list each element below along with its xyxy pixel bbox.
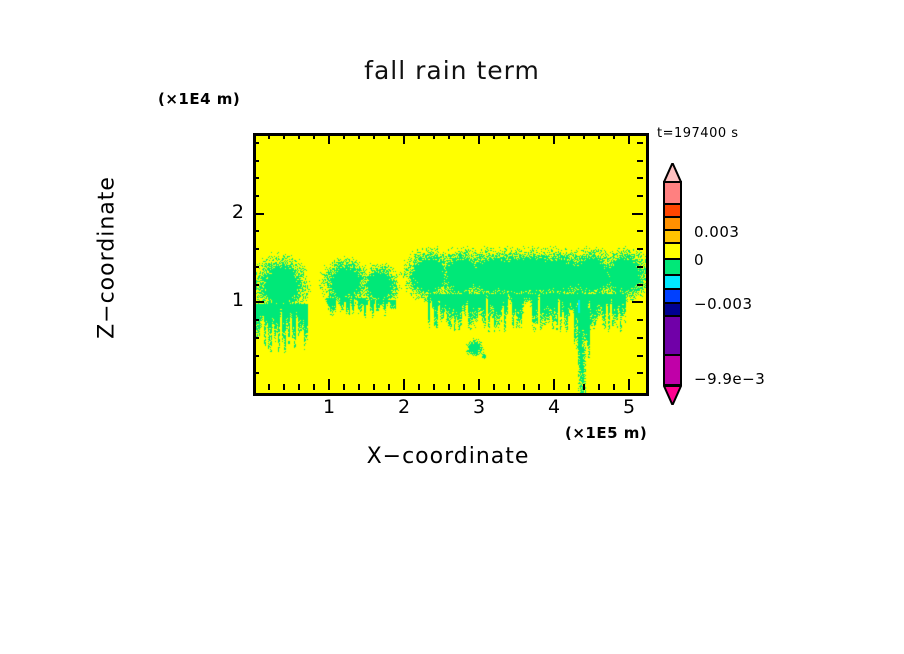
- axis-tick: [553, 379, 555, 390]
- axis-tick: [268, 133, 270, 139]
- axis-tick: [598, 133, 600, 139]
- axis-tick: [553, 133, 555, 144]
- axis-tick: [637, 337, 643, 339]
- axis-tick: [637, 284, 643, 286]
- axis-tick: [493, 384, 495, 390]
- axis-tick: [403, 133, 405, 144]
- axis-tick: [568, 133, 570, 139]
- y-tick-label: 2: [222, 201, 244, 223]
- axis-tick: [637, 319, 643, 321]
- axis-tick: [628, 133, 630, 144]
- axis-tick: [253, 230, 259, 232]
- colorbar-segment: [663, 205, 682, 218]
- axis-tick: [523, 384, 525, 390]
- axis-tick: [253, 337, 259, 339]
- axis-tick: [373, 133, 375, 139]
- axis-tick: [433, 384, 435, 390]
- axis-tick: [298, 133, 300, 139]
- heatmap-canvas: [256, 136, 646, 393]
- page-title: fall rain term: [0, 56, 904, 85]
- colorbar-tick-label: −0.003: [694, 295, 753, 313]
- axis-tick: [478, 379, 480, 390]
- axis-tick: [358, 384, 360, 390]
- axis-tick: [632, 301, 643, 303]
- axis-tick: [637, 160, 643, 162]
- colorbar-tick-label: 0.003: [694, 223, 739, 241]
- axis-tick: [343, 133, 345, 139]
- axis-tick: [253, 213, 264, 215]
- axis-tick: [253, 355, 259, 357]
- axis-tick: [628, 379, 630, 390]
- colorbar-segment: [663, 231, 682, 244]
- time-annotation: t=197400 s: [657, 126, 739, 141]
- colorbar-segment: [663, 244, 682, 260]
- axis-tick: [637, 355, 643, 357]
- axis-tick: [523, 133, 525, 139]
- y-tick-label: 1: [222, 289, 244, 311]
- axis-tick: [448, 384, 450, 390]
- axis-tick: [253, 248, 259, 250]
- axis-tick: [268, 384, 270, 390]
- colorbar-segment: [663, 181, 682, 205]
- axis-tick: [463, 384, 465, 390]
- axis-tick: [283, 133, 285, 139]
- colorbar-segment: [663, 218, 682, 231]
- colorbar-under-arrow-icon: [663, 386, 682, 405]
- axis-tick: [313, 133, 315, 139]
- axis-tick: [283, 384, 285, 390]
- axis-tick: [403, 379, 405, 390]
- axis-tick: [388, 133, 390, 139]
- axis-tick: [538, 384, 540, 390]
- axis-tick: [478, 133, 480, 144]
- axis-tick: [538, 133, 540, 139]
- colorbar-segment: [663, 290, 682, 304]
- axis-tick: [343, 384, 345, 390]
- colorbar-tick-label: −9.9e−3: [694, 370, 765, 388]
- y-axis-title: Z−coordinate: [95, 138, 120, 378]
- x-axis-unit-label: (×1E5 m): [565, 424, 647, 442]
- axis-tick: [253, 284, 259, 286]
- axis-tick: [418, 133, 420, 139]
- x-tick-label: 4: [539, 396, 569, 418]
- axis-tick: [598, 384, 600, 390]
- axis-tick: [493, 133, 495, 139]
- axis-tick: [637, 248, 643, 250]
- axis-tick: [508, 384, 510, 390]
- colorbar-segment: [663, 317, 682, 356]
- colorbar-segment: [663, 260, 682, 276]
- axis-tick: [358, 133, 360, 139]
- axis-tick: [637, 142, 643, 144]
- axis-tick: [568, 384, 570, 390]
- axis-tick: [613, 133, 615, 139]
- axis-tick: [298, 384, 300, 390]
- plot-area: [253, 133, 649, 396]
- axis-tick: [313, 384, 315, 390]
- y-axis-unit-label: (×1E4 m): [158, 90, 240, 108]
- axis-tick: [253, 195, 259, 197]
- axis-tick: [373, 384, 375, 390]
- axis-tick: [637, 230, 643, 232]
- axis-tick: [418, 384, 420, 390]
- axis-tick: [253, 266, 259, 268]
- axis-tick: [388, 384, 390, 390]
- axis-tick: [328, 133, 330, 144]
- axis-tick: [637, 195, 643, 197]
- axis-tick: [463, 133, 465, 139]
- axis-tick: [508, 133, 510, 139]
- axis-tick: [253, 372, 259, 374]
- colorbar-tick-label: 0: [694, 251, 704, 269]
- axis-tick: [253, 142, 259, 144]
- axis-tick: [253, 160, 259, 162]
- x-axis-title: X−coordinate: [253, 444, 643, 469]
- colorbar-segment: [663, 276, 682, 290]
- axis-tick: [637, 372, 643, 374]
- axis-tick: [433, 133, 435, 139]
- axis-tick: [328, 379, 330, 390]
- x-tick-label: 5: [614, 396, 644, 418]
- x-tick-label: 2: [389, 396, 419, 418]
- axis-tick: [448, 133, 450, 139]
- axis-tick: [583, 384, 585, 390]
- colorbar-segment: [663, 304, 682, 317]
- axis-tick: [637, 266, 643, 268]
- colorbar: [663, 181, 682, 386]
- axis-tick: [637, 177, 643, 179]
- axis-tick: [253, 319, 259, 321]
- colorbar-segment: [663, 356, 682, 386]
- colorbar-over-arrow-icon: [663, 163, 682, 182]
- axis-tick: [632, 213, 643, 215]
- axis-tick: [253, 177, 259, 179]
- x-tick-label: 3: [464, 396, 494, 418]
- axis-tick: [253, 301, 264, 303]
- x-tick-label: 1: [314, 396, 344, 418]
- axis-tick: [613, 384, 615, 390]
- axis-tick: [583, 133, 585, 139]
